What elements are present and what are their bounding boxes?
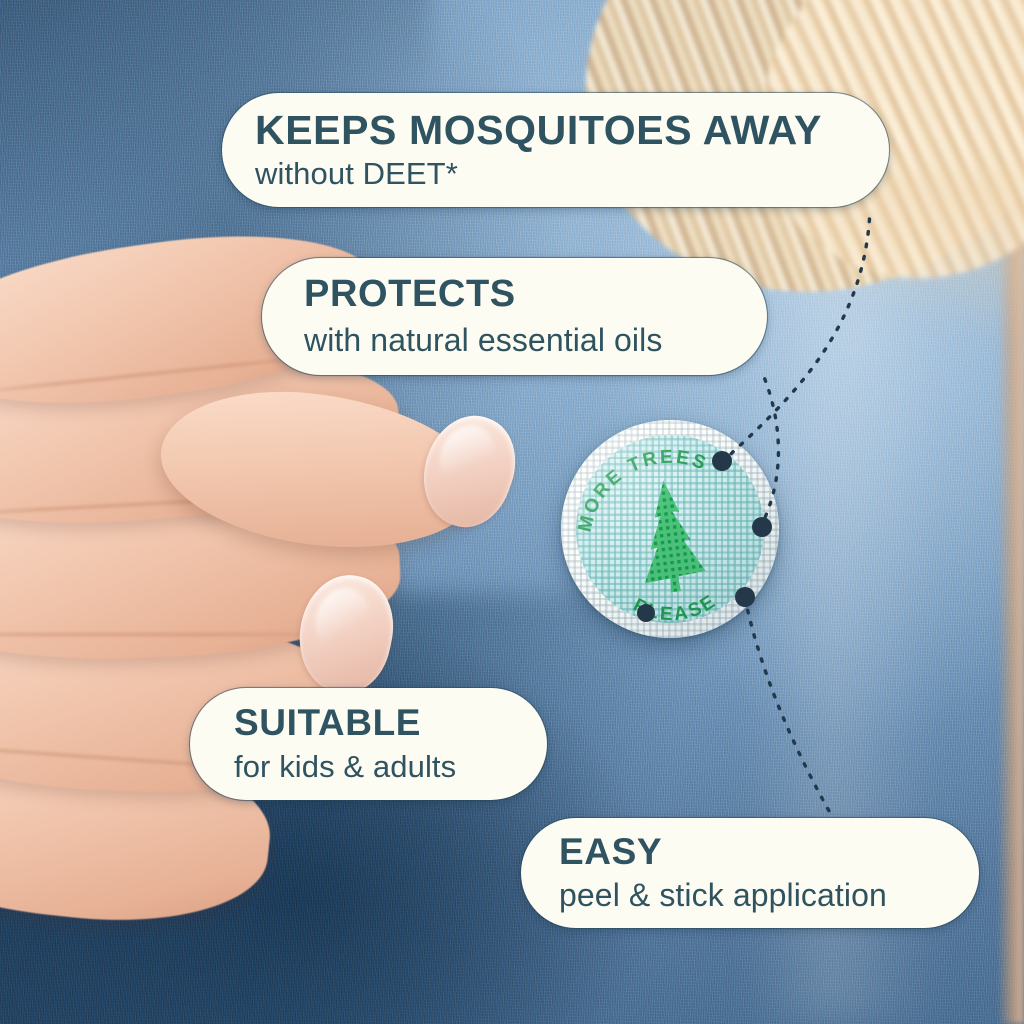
- callout-headline: EASY: [559, 833, 979, 871]
- callout-subtext: without DEET*: [255, 158, 889, 191]
- callout-subtext: with natural essential oils: [304, 324, 767, 358]
- callout-keeps-mosquitoes-away[interactable]: KEEPS MOSQUITOES AWAY without DEET*: [222, 93, 889, 207]
- callout-easy[interactable]: EASY peel & stick application: [521, 818, 979, 928]
- callout-subtext: for kids & adults: [234, 751, 547, 784]
- callout-headline: KEEPS MOSQUITOES AWAY: [255, 109, 889, 152]
- nail-highlight: [431, 417, 504, 497]
- patch-gloss: [561, 420, 779, 638]
- product-feature-image: MORE TREES PLEASE: [0, 0, 1024, 1024]
- callout-headline: PROTECTS: [304, 275, 767, 315]
- callout-subtext: peel & stick application: [559, 879, 979, 913]
- callout-suitable[interactable]: SUITABLE for kids & adults: [190, 688, 547, 800]
- nail-highlight: [309, 583, 377, 659]
- finger-crease: [0, 633, 350, 636]
- callout-protects[interactable]: PROTECTS with natural essential oils: [262, 258, 767, 375]
- callout-headline: SUITABLE: [234, 704, 547, 742]
- mosquito-repellent-patch[interactable]: MORE TREES PLEASE: [561, 420, 779, 638]
